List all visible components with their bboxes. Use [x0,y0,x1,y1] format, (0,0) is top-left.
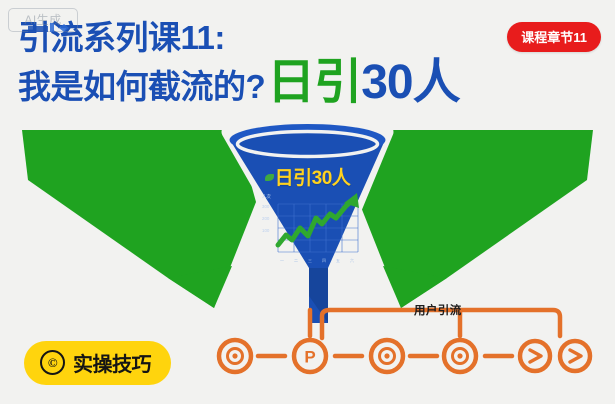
copyright-icon: © [40,350,65,375]
skill-badge: © 实操技巧 [24,341,171,385]
flow-node-target-3[interactable] [444,340,476,372]
poster-canvas: AI生成 引流系列课11: 我是如何截流的? 日引30人 课程章节11 [0,0,615,404]
flow-node-target-2[interactable] [371,340,403,372]
flow-label: 用户引流 [414,302,462,318]
chapter-badge: 课程章节11 [507,22,601,52]
headline-emphasis-green: 日引 [267,56,361,109]
play-arrow-icon [530,350,541,362]
headline-line-2: 我是如何截流的? [18,64,265,110]
play-arrow-icon [570,350,581,362]
skill-badge-label: 实操技巧 [73,348,151,377]
headline-emphasis-blue: 30人 [361,56,459,109]
flow-node-pin-p-glyph: P [304,348,315,367]
flow-node-pin-p[interactable]: P [294,340,326,372]
headline-emphasis: 日引30人 [267,60,459,106]
funnel-inner-label: 日引30人 [0,163,615,190]
leaf-icon [265,174,274,181]
flow-node-play-2[interactable] [560,341,590,371]
headline-line-2-row: 我是如何截流的? 日引30人 [18,60,488,110]
flow-node-target-1[interactable] [219,340,251,372]
flow-node-play-1[interactable] [520,341,550,371]
flow-connectors [258,310,560,356]
funnel-inner-label-text: 日引30人 [275,168,351,189]
headline-line-1: 引流系列课11: [18,18,488,58]
watermark-glyph-icon [28,22,74,35]
headline-block: 引流系列课11: 我是如何截流的? 日引30人 [18,18,488,110]
funnel-rim-inner [238,132,378,157]
